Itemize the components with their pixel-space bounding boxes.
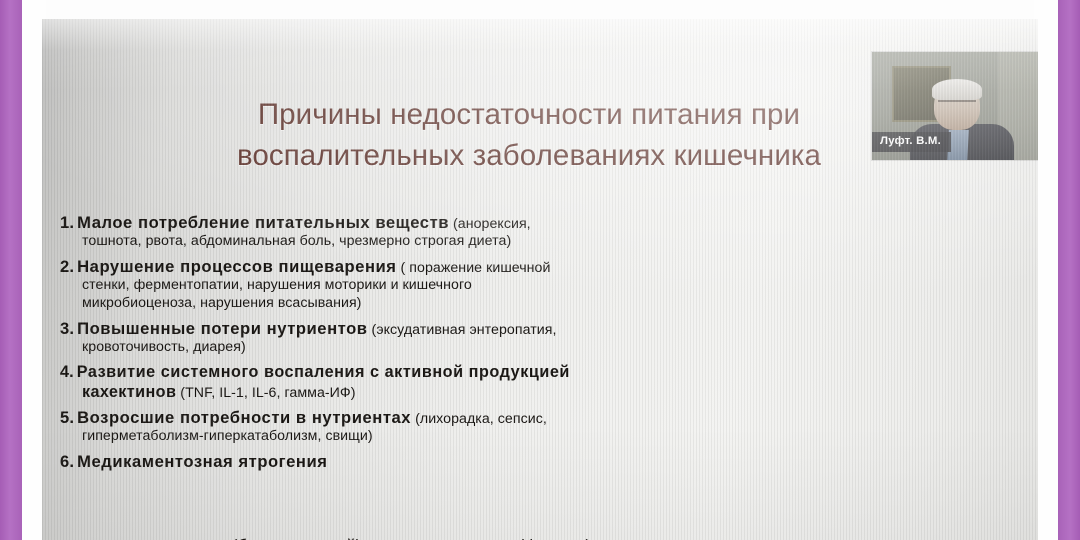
slide-bullet-list: 1.Малое потребление питательных веществ …: [60, 213, 868, 474]
list-item-tail: (лихорадка, сепсис,: [411, 411, 547, 427]
list-item-heading: 6.Медикаментозная ятрогения: [60, 452, 868, 472]
list-item-strong: Нарушение процессов пищеварения: [77, 257, 396, 276]
list-item-number: 2.: [60, 257, 74, 276]
list-item-number: 4.: [60, 363, 74, 381]
list-item-number: 1.: [60, 213, 74, 232]
list-item-strong: Возросшие потребности в нутриентах: [77, 408, 411, 427]
video-participant-tile[interactable]: Луфт. В.М.: [872, 52, 1038, 160]
photographed-screen: Причины недостаточности питания при восп…: [0, 0, 1080, 540]
list-item-heading: 5.Возросшие потребности в нутриентах (ли…: [60, 408, 868, 428]
frame-border-left: [0, 0, 22, 540]
list-item-tail: (анорексия,: [449, 216, 531, 232]
list-item-number: 6.: [60, 452, 74, 471]
participant-hair: [932, 79, 982, 100]
glasses-icon: [938, 100, 976, 110]
list-item-heading: 1.Малое потребление питательных веществ …: [60, 213, 868, 233]
slide-title-line-2: воспалительных заболеваниях кишечника: [50, 136, 1008, 175]
list-item: 3.Повышенные потери нутриентов (эксудати…: [60, 319, 868, 356]
list-item-continuation: стенки, ферментопатии, нарушения моторик…: [82, 277, 868, 295]
list-item-continuation-light: (TNF, IL-1, IL-6, гамма-ИФ): [176, 385, 355, 401]
list-item: 6.Медикаментозная ятрогения: [60, 452, 868, 472]
list-item-strong: Малое потребление питательных веществ: [77, 213, 449, 232]
frame-border-right: [1058, 0, 1080, 540]
list-item-number: 5.: [60, 408, 74, 427]
list-item-continuation: тошнота, рвота, абдоминальная боль, чрез…: [82, 233, 868, 251]
list-item-continuation-strong: кахектинов: [82, 383, 176, 401]
list-item-tail: (эксудативная энтеропатия,: [368, 322, 557, 338]
list-item-number: 3.: [60, 319, 74, 338]
list-item-continuation: гиперметаболизм-гиперкатаболизм, свищи): [82, 428, 868, 446]
list-item-continuation: кровоточивость, диарея): [82, 339, 868, 357]
list-item-heading: 4.Развитие системного воспаления с актив…: [60, 363, 868, 382]
list-item: 2.Нарушение процессов пищеварения ( пора…: [60, 257, 868, 312]
slide-title-line-1: Причины недостаточности питания при: [50, 95, 1008, 134]
list-item: 4.Развитие системного воспаления с актив…: [60, 363, 868, 403]
list-item-strong: Развитие системного воспаления с активно…: [77, 363, 570, 381]
list-item-strong: Медикаментозная ятрогения: [77, 452, 327, 471]
list-item-heading: 3.Повышенные потери нутриентов (эксудати…: [60, 319, 868, 339]
list-item-tail: ( поражение кишечной: [397, 260, 551, 276]
list-item-strong: Повышенные потери нутриентов: [77, 319, 367, 338]
participant-name-label: Луфт. В.М.: [872, 132, 951, 152]
list-item-heading: 2.Нарушение процессов пищеварения ( пора…: [60, 257, 868, 277]
list-item-continuation-2: микробиоценоза, нарушения всасывания): [82, 295, 868, 313]
presentation-slide: Причины недостаточности питания при восп…: [42, 19, 1038, 540]
list-item-continuation: кахектинов (TNF, IL-1, IL-6, гамма-ИФ): [82, 382, 868, 403]
list-item: 5.Возросшие потребности в нутриентах (ли…: [60, 408, 868, 445]
list-item: 1.Малое потребление питательных веществ …: [60, 213, 868, 250]
